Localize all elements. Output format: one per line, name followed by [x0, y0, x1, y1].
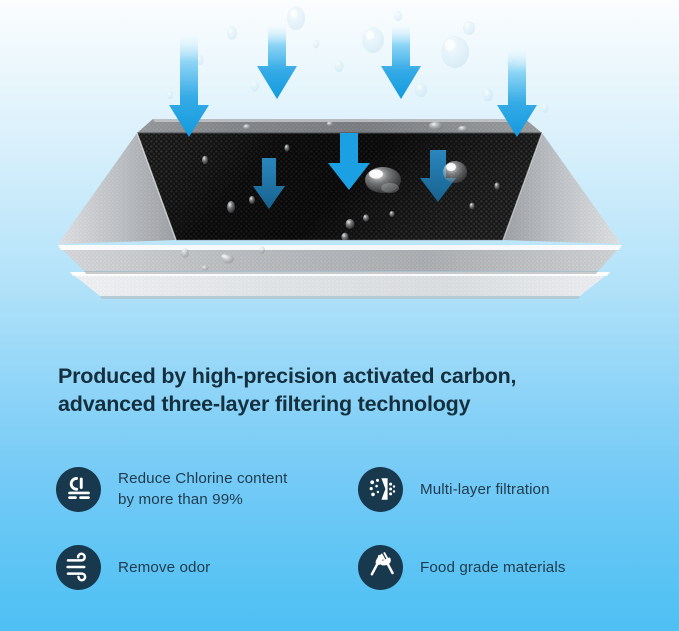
headline-line-2: advanced three-layer filtering technolog… — [58, 390, 638, 418]
water-droplets-above — [167, 6, 548, 113]
feature-label-food-grade: Food grade materials — [420, 557, 566, 578]
fork-knife-icon — [358, 545, 403, 590]
feature-list: Reduce Chlorine content by more than 99% — [56, 450, 656, 606]
feature-label-chlorine-line2: by more than 99% — [118, 489, 287, 510]
flow-arrow-3 — [381, 26, 421, 99]
multi-layer-filtration-icon — [358, 467, 403, 512]
feature-label-multi-layer: Multi-layer filtration — [420, 479, 550, 500]
filter-layer-middle — [58, 245, 622, 274]
chlorine-icon — [56, 467, 101, 512]
filter-layer-bottom — [70, 272, 610, 299]
feature-label-odor-line1: Remove odor — [118, 559, 210, 576]
feature-label-odor: Remove odor — [118, 557, 210, 578]
product-infographic: Produced by high-precision activated car… — [0, 0, 679, 631]
wind-odor-icon — [56, 545, 101, 590]
filter-illustration — [0, 0, 679, 330]
headline: Produced by high-precision activated car… — [58, 362, 638, 418]
filter-layer-activated-carbon — [58, 119, 621, 244]
flow-arrow-2 — [257, 26, 297, 99]
feature-label-food-grade-line1: Food grade materials — [420, 559, 566, 576]
feature-item-odor: Remove odor — [56, 528, 358, 606]
feature-item-food-grade: Food grade materials — [358, 528, 660, 606]
feature-label-multi-layer-line1: Multi-layer filtration — [420, 481, 550, 498]
feature-label-chlorine: Reduce Chlorine content by more than 99% — [118, 468, 287, 510]
headline-line-1: Produced by high-precision activated car… — [58, 362, 638, 390]
feature-item-chlorine: Reduce Chlorine content by more than 99% — [56, 450, 358, 528]
feature-item-multi-layer: Multi-layer filtration — [358, 450, 660, 528]
feature-label-chlorine-line1: Reduce Chlorine content — [118, 470, 287, 487]
